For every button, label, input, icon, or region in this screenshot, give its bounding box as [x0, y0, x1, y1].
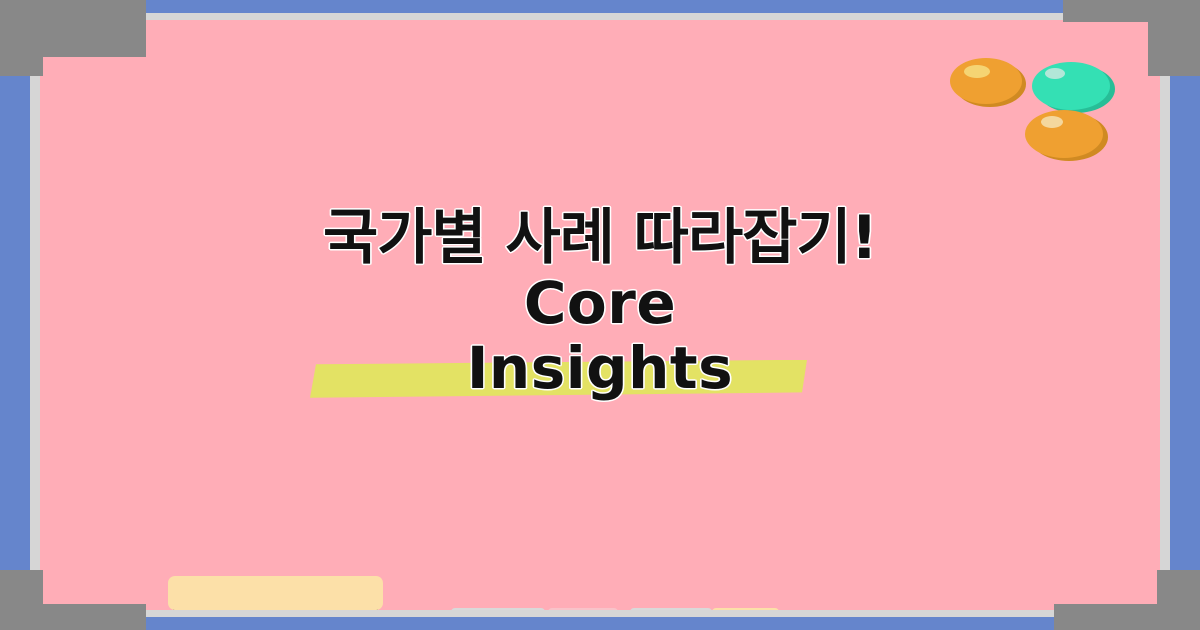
chrome-occluder-bottom-left-bar [0, 604, 146, 630]
bottom-rail-segment [451, 608, 545, 610]
chrome-occluder-top-left [0, 0, 43, 76]
title-block: 국가별 사례 따라잡기! Core Insights [40, 206, 1160, 401]
orange-blob-icon [950, 58, 1022, 104]
chrome-occluder-bottom-right-bar [1054, 604, 1200, 630]
chrome-occluder-top-right-bar [1063, 0, 1148, 22]
slide-canvas: 국가별 사례 따라잡기! Core Insights [0, 0, 1200, 630]
bottom-cream-card [168, 576, 383, 610]
page-title-core-text: Core [524, 269, 676, 337]
pink-content-card: 국가별 사례 따라잡기! Core Insights [40, 20, 1160, 610]
bottom-rail-segment [548, 608, 618, 610]
chrome-occluder-top-bar [43, 0, 146, 57]
bottom-rail-segment [630, 608, 712, 610]
page-title-insights-text: Insights [467, 334, 733, 402]
page-title-line-insights: Insights [40, 336, 1160, 401]
bottom-rail-segment [712, 608, 779, 610]
chrome-occluder-top-right [1148, 0, 1200, 76]
orange-blob-icon [1025, 110, 1103, 158]
page-title-line-core: Core [40, 271, 1160, 336]
page-title-korean: 국가별 사례 따라잡기! [40, 206, 1160, 271]
mint-blob-icon [1032, 62, 1110, 110]
